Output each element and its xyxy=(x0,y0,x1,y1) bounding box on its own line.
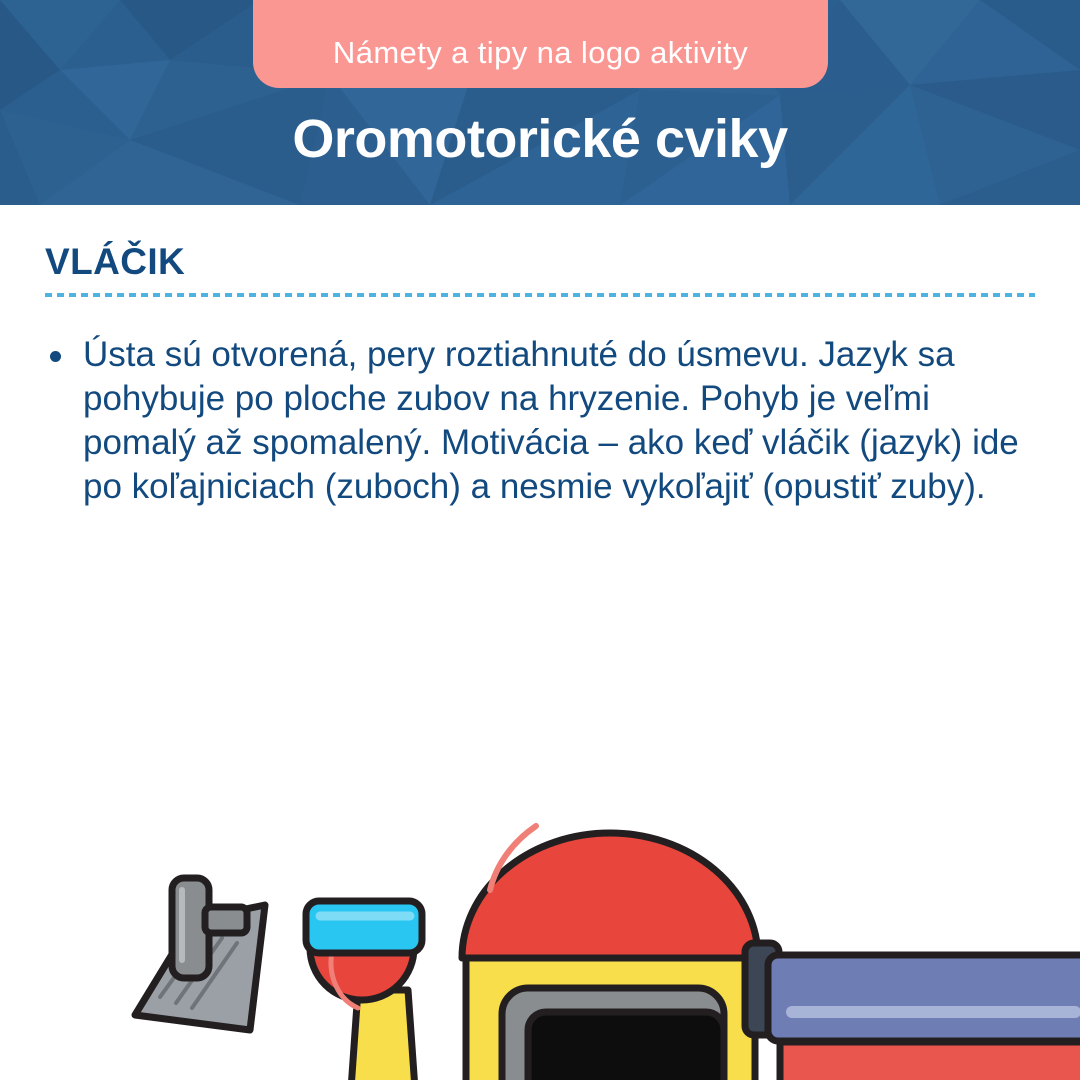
category-badge-label: Námety a tipy na logo aktivity xyxy=(333,37,748,68)
list-item: Ústa sú otvorená, pery roztiahnuté do ús… xyxy=(45,333,1035,509)
illustration-area xyxy=(0,560,1080,1080)
category-badge: Námety a tipy na logo aktivity xyxy=(253,0,828,88)
locomotive-funnel-icon xyxy=(306,901,422,1080)
header-banner: Námety a tipy na logo aktivity Oromotori… xyxy=(0,0,1080,205)
dotted-divider xyxy=(45,293,1035,297)
infographic-card: Námety a tipy na logo aktivity Oromotori… xyxy=(0,0,1080,1080)
instruction-list: Ústa sú otvorená, pery roztiahnuté do ús… xyxy=(45,333,1035,509)
passenger-carriage-icon xyxy=(768,955,1080,1080)
locomotive-cab-icon xyxy=(462,826,758,1080)
page-title: Oromotorické cviky xyxy=(0,112,1080,166)
carriage-roof xyxy=(768,955,1080,1041)
toy-train-illustration xyxy=(0,560,1080,1080)
section-title: VLÁČIK xyxy=(45,243,185,280)
